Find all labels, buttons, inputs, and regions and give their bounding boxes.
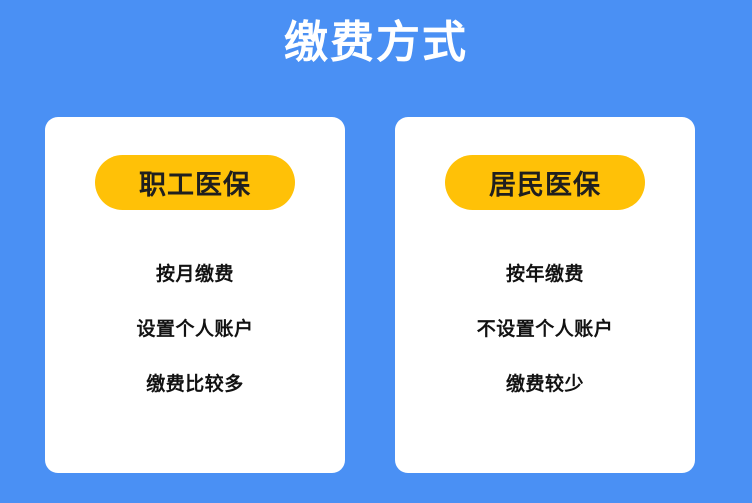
card-pill-employee-insurance: 职工医保 — [95, 155, 295, 210]
card-item: 缴费比较多 — [146, 357, 244, 412]
page-title: 缴费方式 — [0, 16, 752, 70]
card-item: 按月缴费 — [156, 247, 234, 302]
card-item: 不设置个人账户 — [477, 302, 614, 357]
card-item-list-resident-insurance: 按年缴费 不设置个人账户 缴费较少 — [395, 247, 695, 412]
card-item: 设置个人账户 — [136, 302, 253, 357]
card-pill-resident-insurance: 居民医保 — [445, 155, 645, 210]
card-item-list-employee-insurance: 按月缴费 设置个人账户 缴费比较多 — [45, 247, 345, 412]
card-item: 缴费较少 — [506, 357, 584, 412]
card-item: 按年缴费 — [506, 247, 584, 302]
card-resident-insurance: 居民医保 按年缴费 不设置个人账户 缴费较少 — [395, 117, 695, 473]
comparison-cards-row: 职工医保 按月缴费 设置个人账户 缴费比较多 居民医保 按年缴费 不设置个人账户… — [45, 117, 695, 473]
card-employee-insurance: 职工医保 按月缴费 设置个人账户 缴费比较多 — [45, 117, 345, 473]
slide-canvas: 缴费方式 职工医保 按月缴费 设置个人账户 缴费比较多 居民医保 按年缴费 不设… — [0, 0, 752, 503]
